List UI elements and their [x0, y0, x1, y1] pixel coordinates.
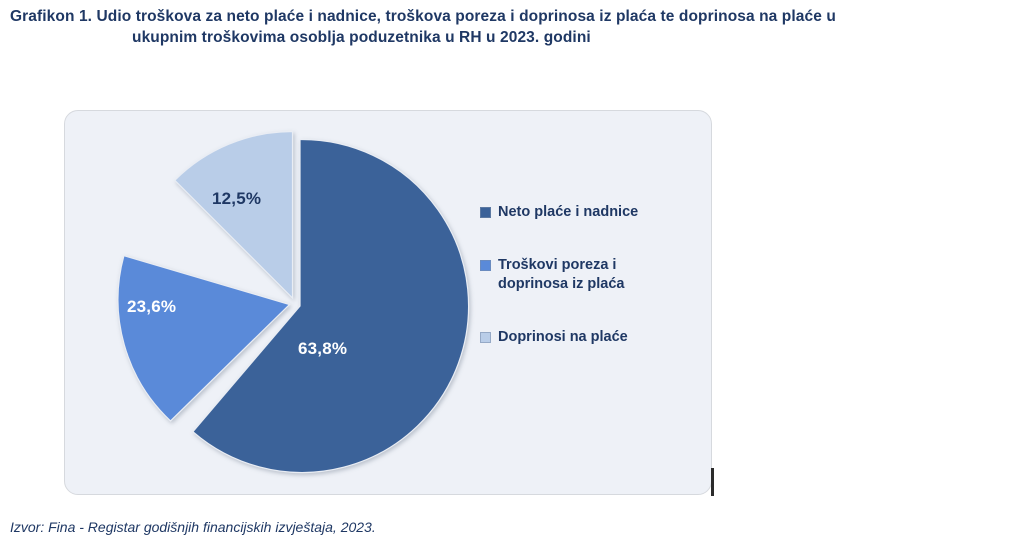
legend-item-troskovi-poreza-i-doprinosa-iz-placa[interactable]: Troškovi poreza i doprinosa iz plaća [480, 256, 695, 294]
legend-swatch-icon-doprinosi-na-place [480, 332, 491, 343]
chart-panel: 63,8% 23,6% 12,5% Neto plaće i nadnice T… [64, 110, 712, 495]
pie-data-label-doprinosi-na-place: 12,5% [212, 189, 261, 209]
legend-swatch-icon-neto-place-i-nadnice [480, 207, 491, 218]
pie-data-label-neto-place-i-nadnice: 63,8% [298, 339, 347, 359]
chart-title: Grafikon 1. Udio troškova za neto plaće … [10, 6, 1020, 48]
text-cursor-caret [711, 468, 714, 496]
legend-item-doprinosi-na-place[interactable]: Doprinosi na plaće [480, 328, 695, 347]
legend-label-doprinosi-na-place: Doprinosi na plaće [498, 328, 628, 347]
legend-label-troskovi-poreza-i-doprinosa-iz-placa: Troškovi poreza i doprinosa iz plaća [498, 256, 625, 294]
pie-data-label-troskovi-poreza-i-doprinosa-iz-placa: 23,6% [127, 297, 176, 317]
source-note: Izvor: Fina - Registar godišnjih financi… [10, 519, 376, 535]
pie-slice-doprinosi-na-place[interactable] [175, 132, 293, 299]
legend-swatch-icon-troskovi-poreza-i-doprinosa-iz-placa [480, 260, 491, 271]
legend-label-neto-place-i-nadnice: Neto plaće i nadnice [498, 203, 638, 222]
chart-title-line-2: ukupnim troškovima osoblja poduzetnika u… [10, 27, 1020, 48]
chart-title-line-1: Grafikon 1. Udio troškova za neto plaće … [10, 6, 1020, 27]
chart-legend: Neto plaće i nadnice Troškovi poreza i d… [480, 203, 695, 381]
legend-item-neto-place-i-nadnice[interactable]: Neto plaće i nadnice [480, 203, 695, 222]
